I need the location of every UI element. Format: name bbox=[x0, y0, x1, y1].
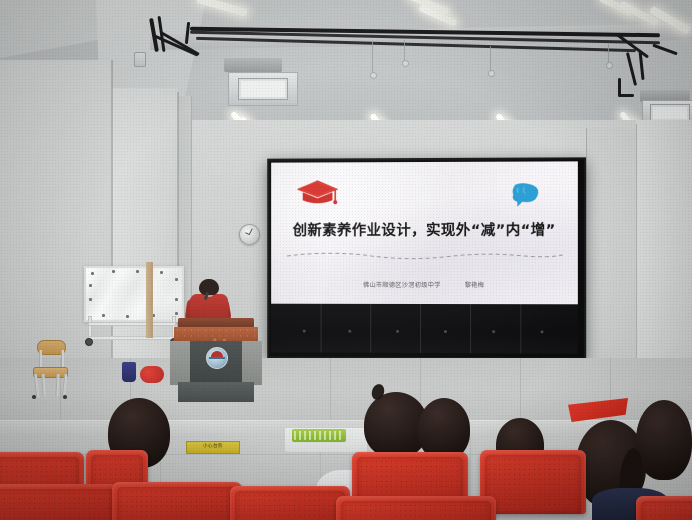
auditorium-seat bbox=[336, 496, 496, 520]
slide-school-name: 佛山市顺德区沙滘初级中学 bbox=[363, 282, 441, 289]
lectern-podium: 讲 台 bbox=[170, 318, 262, 402]
presentation-slide: 创新素养作业设计，实现外“减”内“增” 佛山市顺德区沙滘初级中学黎艳梅 bbox=[271, 161, 578, 304]
slide-title: 创新素养作业设计，实现外“减”内“增” bbox=[271, 219, 578, 240]
wooden-post bbox=[146, 262, 153, 338]
auditorium-seat bbox=[636, 496, 692, 520]
ceiling-hanger bbox=[404, 40, 405, 62]
panel-screw bbox=[492, 330, 495, 333]
whiteboard-caster-wheel bbox=[85, 338, 93, 346]
chair-seat bbox=[33, 367, 68, 378]
wavy-divider-line bbox=[285, 250, 565, 264]
school-crest-icon bbox=[206, 347, 228, 369]
podium-side-panel bbox=[242, 341, 262, 385]
led-lower-panels bbox=[271, 304, 578, 354]
audience-head bbox=[418, 398, 470, 460]
auditorium-seat bbox=[112, 482, 242, 520]
panel-screw bbox=[348, 330, 351, 333]
red-bag bbox=[140, 366, 164, 383]
ceiling-speaker bbox=[134, 52, 146, 67]
panel-screw bbox=[540, 330, 543, 333]
whiteboard-glare bbox=[86, 268, 182, 320]
panel-screw bbox=[396, 330, 399, 333]
ceiling-hanger bbox=[490, 46, 491, 72]
podium-side-panel bbox=[170, 341, 190, 385]
speech-bubble-icon bbox=[510, 182, 540, 208]
auditorium-photo: 创新素养作业设计，实现外“减”内“增” 佛山市顺德区沙滘初级中学黎艳梅 bbox=[0, 0, 692, 520]
wooden-chair bbox=[30, 340, 70, 400]
ceiling-hanger-dot bbox=[402, 60, 409, 67]
auditorium-seat bbox=[0, 484, 120, 520]
mobile-whiteboard bbox=[84, 266, 180, 336]
slide-subtitle: 佛山市顺德区沙滘初级中学黎艳梅 bbox=[271, 280, 578, 289]
panel-screw bbox=[444, 330, 447, 333]
whiteboard-crossbar bbox=[88, 322, 176, 326]
blue-bag bbox=[122, 362, 136, 382]
ac-duct bbox=[224, 58, 282, 72]
ceiling-hanger bbox=[372, 42, 373, 74]
led-display-screen: 创新素养作业设计，实现外“减”内“增” 佛山市顺德区沙滘初级中学黎艳梅 bbox=[267, 157, 586, 359]
whiteboard-surface bbox=[84, 266, 184, 322]
green-pencil-case bbox=[292, 429, 346, 442]
panel-screw bbox=[303, 330, 306, 333]
ceiling-hanger-dot bbox=[606, 62, 613, 69]
ceiling-hanger-dot bbox=[488, 70, 495, 77]
auditorium-seat bbox=[230, 486, 350, 520]
ceiling-hanger bbox=[608, 44, 609, 64]
ac-grille-icon bbox=[238, 78, 288, 100]
cable-elbow bbox=[618, 94, 634, 97]
graduation-cap-icon bbox=[295, 178, 341, 208]
stage-edge-warning-sign: 小心台阶 bbox=[186, 441, 240, 454]
slide-presenter-name: 黎艳梅 bbox=[465, 282, 485, 289]
podium-base bbox=[178, 382, 254, 402]
whiteboard-crossbar bbox=[88, 336, 176, 340]
wall-clock-icon bbox=[239, 224, 260, 245]
podium-front-band: 讲 台 bbox=[174, 327, 258, 342]
audience-head bbox=[636, 400, 692, 480]
ceiling-hanger-dot bbox=[370, 72, 377, 79]
